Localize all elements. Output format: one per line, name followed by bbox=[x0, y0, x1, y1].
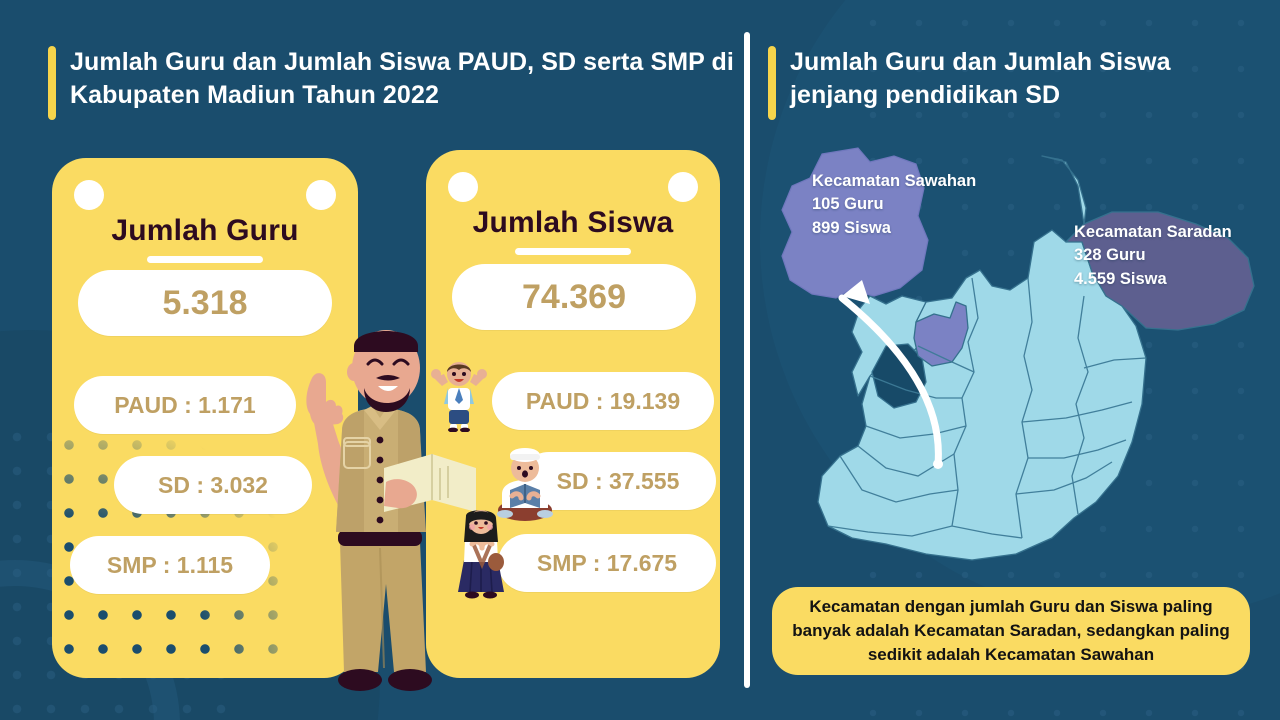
map-caption-text: Kecamatan dengan jumlah Guru dan Siswa p… bbox=[786, 595, 1236, 667]
stat-item-guru-smp: SMP : 1.115 bbox=[70, 536, 270, 594]
stat-item-siswa-paud: PAUD : 19.139 bbox=[492, 372, 714, 430]
callout-teacher-count: 105 Guru bbox=[812, 193, 976, 216]
card-header: Jumlah Siswa bbox=[426, 206, 720, 255]
callout-teacher-count: 328 Guru bbox=[1074, 244, 1232, 267]
card-title: Jumlah Guru bbox=[52, 214, 358, 248]
stat-item-guru-paud: PAUD : 1.171 bbox=[74, 376, 296, 434]
right-panel-title-text: Jumlah Guru dan Jumlah Siswa jenjang pen… bbox=[790, 46, 1238, 112]
stat-item-siswa-smp: SMP : 17.675 bbox=[498, 534, 716, 592]
card-divider-rule bbox=[147, 256, 263, 263]
panel-divider bbox=[744, 32, 750, 688]
left-panel-title: Jumlah Guru dan Jumlah Siswa PAUD, SD se… bbox=[48, 46, 738, 120]
student-girl-illustration bbox=[452, 508, 510, 600]
map-caption-box: Kecamatan dengan jumlah Guru dan Siswa p… bbox=[772, 587, 1250, 675]
title-accent-bar bbox=[48, 46, 56, 120]
map-callout-sawahan: Kecamatan Sawahan 105 Guru 899 Siswa bbox=[812, 170, 976, 240]
callout-district-name: Kecamatan Saradan bbox=[1074, 221, 1232, 244]
card-hole-left-icon bbox=[448, 172, 478, 202]
right-panel-title: Jumlah Guru dan Jumlah Siswa jenjang pen… bbox=[768, 46, 1238, 120]
left-panel-title-text: Jumlah Guru dan Jumlah Siswa PAUD, SD se… bbox=[70, 46, 738, 112]
infographic-stage: Jumlah Guru dan Jumlah Siswa PAUD, SD se… bbox=[0, 0, 1280, 720]
callout-district-name: Kecamatan Sawahan bbox=[812, 170, 976, 193]
stat-total-siswa: 74.369 bbox=[452, 264, 696, 330]
card-header: Jumlah Guru bbox=[52, 214, 358, 263]
student-boy-cheering-illustration bbox=[428, 358, 490, 432]
callout-student-count: 899 Siswa bbox=[812, 217, 976, 240]
card-hole-right-icon bbox=[668, 172, 698, 202]
title-accent-bar bbox=[768, 46, 776, 120]
card-hole-left-icon bbox=[74, 180, 104, 210]
card-divider-rule bbox=[515, 248, 631, 255]
card-title: Jumlah Siswa bbox=[426, 206, 720, 240]
map-callout-saradan: Kecamatan Saradan 328 Guru 4.559 Siswa bbox=[1074, 221, 1232, 291]
card-hole-right-icon bbox=[306, 180, 336, 210]
callout-student-count: 4.559 Siswa bbox=[1074, 268, 1232, 291]
